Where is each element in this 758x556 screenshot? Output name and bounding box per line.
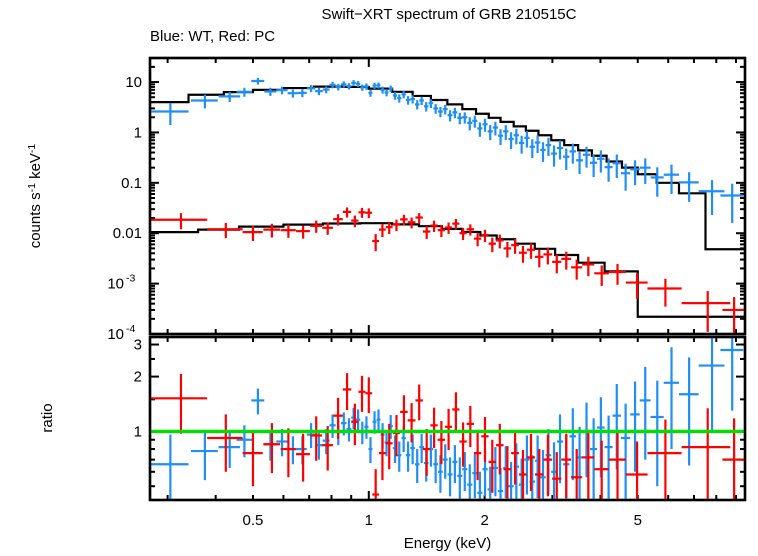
x-tick-label: 1 — [365, 512, 373, 529]
y-tick-label: 10 — [125, 74, 142, 91]
page-title: Swift−XRT spectrum of GRB 210515C — [322, 6, 577, 23]
figure-root: Swift−XRT spectrum of GRB 210515C Blue: … — [0, 0, 758, 556]
x-tick-label: 0.5 — [243, 512, 264, 529]
x-tick-label: 2 — [480, 512, 488, 529]
y-tick-label: 1 — [134, 124, 142, 141]
svg-text:ratio: ratio — [39, 403, 56, 432]
y-axis-label: counts s-1 keV-1 — [26, 144, 44, 249]
ratio-tick-label: 1 — [134, 423, 142, 440]
ratio-tick-label: 3 — [134, 337, 142, 354]
spectrum-figure: Swift−XRT spectrum of GRB 210515C Blue: … — [0, 0, 758, 556]
svg-text:-3: -3 — [126, 273, 135, 285]
legend-subtitle: Blue: WT, Red: PC — [150, 28, 275, 45]
svg-text:-4: -4 — [126, 323, 135, 335]
svg-text:10: 10 — [107, 326, 124, 343]
y-tick-label: 0.01 — [113, 225, 142, 242]
x-tick-label: 5 — [634, 512, 642, 529]
svg-text:counts s-1 keV-1: counts s-1 keV-1 — [26, 144, 44, 249]
svg-text:10: 10 — [107, 276, 124, 293]
ratio-axis-label: ratio — [39, 403, 56, 432]
y-tick-label: 0.1 — [121, 175, 142, 192]
x-axis-label: Energy (keV) — [404, 535, 492, 552]
ratio-tick-label: 2 — [134, 369, 142, 386]
